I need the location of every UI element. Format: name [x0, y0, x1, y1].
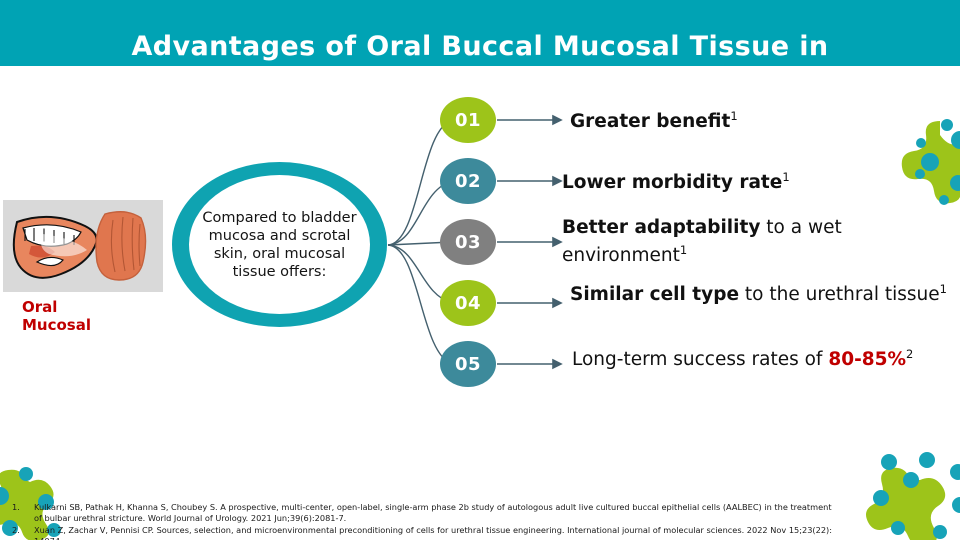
- footnote-ref-03: 1: [680, 243, 687, 257]
- page-title: Advantages of Oral Buccal Mucosal Tissue…: [0, 30, 960, 64]
- footnote-2-line-2: 14074.: [34, 536, 960, 540]
- footnote-marker-1: 1.: [12, 502, 34, 513]
- advantage-rest-05: Long-term success rates of: [572, 349, 828, 370]
- step-circle-05[interactable]: 05: [440, 341, 496, 387]
- advantage-text-04: Similar cell type to the urethral tissue…: [570, 278, 960, 306]
- footnote-item-2: 2. Xuan Z, Zachar V, Pennisi CP. Sources…: [12, 525, 960, 540]
- step-circle-02[interactable]: 02: [440, 158, 496, 204]
- footnote-2-line-1: Xuan Z, Zachar V, Pennisi CP. Sources, s…: [34, 525, 960, 536]
- advantage-lead-04: Similar cell type: [570, 284, 739, 305]
- footnote-1-line-2: of bulbar urethral stricture. World Jour…: [34, 513, 960, 524]
- footnote-list: 1. Kulkarni SB, Pathak H, Khanna S, Chou…: [12, 502, 960, 540]
- advantage-lead-02: Lower morbidity rate: [562, 172, 782, 193]
- step-circle-04[interactable]: 04: [440, 280, 496, 326]
- advantage-rest-04: to the urethral tissue: [739, 284, 940, 305]
- step-circle-01[interactable]: 01: [440, 97, 496, 143]
- ellipse-inner: Compared to bladder mucosa and scrotal s…: [189, 175, 370, 314]
- footnote-ref-01: 1: [730, 109, 737, 123]
- footnote-item-1: 1. Kulkarni SB, Pathak H, Khanna S, Chou…: [12, 502, 960, 524]
- central-ellipse: Compared to bladder mucosa and scrotal s…: [172, 162, 387, 327]
- advantage-text-03: Better adaptability to a wet environment…: [562, 216, 960, 267]
- caption-line-1: Oral: [22, 298, 172, 316]
- advantage-text-02: Lower morbidity rate1: [562, 166, 960, 194]
- footnote-body-1: Kulkarni SB, Pathak H, Khanna S, Choubey…: [34, 502, 960, 524]
- advantage-lead-01: Greater benefit: [570, 111, 730, 132]
- footnote-marker-2: 2.: [12, 525, 34, 536]
- footnote-1-line-1: Kulkarni SB, Pathak H, Khanna S, Choubey…: [34, 502, 960, 513]
- step-circle-03[interactable]: 03: [440, 219, 496, 265]
- advantage-text-01: Greater benefit1: [570, 105, 960, 133]
- footnote-ref-02: 1: [782, 170, 789, 184]
- footnote-body-2: Xuan Z, Zachar V, Pennisi CP. Sources, s…: [34, 525, 960, 540]
- slide-canvas: Advantages of Oral Buccal Mucosal Tissue…: [0, 0, 960, 540]
- footnote-ref-04: 1: [940, 282, 947, 296]
- advantage-highlight-05: 80-85%: [828, 349, 906, 370]
- caption-line-2: Mucosal: [22, 316, 172, 334]
- ellipse-text: Compared to bladder mucosa and scrotal s…: [189, 209, 370, 281]
- advantage-text-05: Long-term success rates of 80-85%2: [572, 343, 960, 371]
- footnote-ref-05: 2: [906, 347, 913, 361]
- advantage-lead-03: Better adaptability: [562, 217, 760, 238]
- oral-mucosa-image: [3, 200, 163, 292]
- oral-mucosa-caption: Oral Mucosal: [22, 298, 172, 334]
